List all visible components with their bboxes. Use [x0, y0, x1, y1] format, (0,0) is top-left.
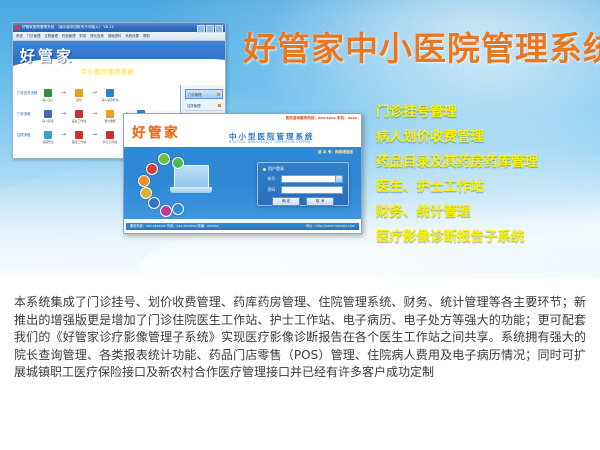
login-body: 版 本 号：网络增强版 用户登录 — [124, 147, 361, 219]
workflow-row-label: 住院流程 — [17, 131, 37, 140]
footer-bar: 服务热线：xxx-xxxxxxx 传真：xxx-xxxxxxx 邮编：xxxxx… — [126, 223, 359, 230]
password-label: 密码： — [263, 187, 279, 193]
login-title-text: 用户登录 — [268, 166, 284, 172]
contact-info: 售前咨询服务热线：xxx-xxxx 手机：xxxx — [286, 116, 357, 121]
menu-item-finance[interactable]: 财务 — [79, 32, 86, 40]
visit-query-icon — [106, 89, 114, 97]
workflow-node[interactable]: 医生工作站 — [68, 131, 90, 144]
workflow-row-label: 门诊流程 — [17, 110, 37, 119]
monitor-icon — [148, 197, 160, 209]
workflow-node-caption: 护士工作站 — [103, 140, 117, 144]
username-label: 帐号： — [263, 176, 279, 182]
patient-visit-icon — [44, 110, 52, 118]
menu-item-settings[interactable]: 系统设置 — [125, 32, 139, 40]
feature-item: 财务、统计管理 — [376, 200, 596, 225]
workflow-node[interactable]: 医生工作站 — [68, 110, 90, 123]
window-title-text: 好管家医院管理系统 （演示版测试帐号不可输入） V6.12 — [22, 23, 114, 32]
cancel-button[interactable]: 取 消 — [306, 197, 334, 206]
menu-item-basic-data[interactable]: 基础资料 — [108, 32, 122, 40]
page-title: 好管家中小医院管理系统 — [243, 22, 600, 70]
side-menu-item-inpatient[interactable]: 住院管理 — [185, 102, 223, 111]
footer-contact-text: 服务热线：xxx-xxxxxxx 传真：xxx-xxxxxxx 邮编：xxxxx… — [130, 223, 218, 230]
menu-item-director-query[interactable]: 院长查询 — [90, 32, 104, 40]
login-panel: 用户登录 帐号： 密码： 确 定 取 消 — [257, 162, 349, 206]
arrow-icon: → — [90, 131, 99, 139]
username-input[interactable] — [281, 175, 343, 183]
brand-subtitle-en: HOSPITAL MANAGEMENT OPERATION SYSTEM — [229, 140, 310, 144]
arrow-icon: → — [59, 131, 68, 139]
workflow-node[interactable]: 住院登记 — [37, 131, 59, 144]
arrow-icon: → — [59, 110, 68, 118]
chevron-down-icon[interactable] — [335, 176, 342, 182]
workflow-node[interactable]: 病人就诊 — [37, 110, 59, 123]
menu-item-inpatient[interactable]: 住院管理 — [44, 32, 58, 40]
workflow-node-caption: 病人录入 — [42, 98, 53, 102]
app-icon — [15, 25, 20, 30]
expand-icon — [217, 93, 220, 96]
brand-logo-text: 好管家 — [20, 45, 74, 66]
footer-website-link[interactable]: 网址：http://www.haoxxjia.com — [306, 223, 355, 230]
workflow-node-caption: 病人就诊查询 — [102, 98, 119, 102]
password-input[interactable] — [281, 186, 343, 194]
side-menu-item-outpatient[interactable]: 门诊管理 — [185, 89, 223, 99]
menu-item-drugs[interactable]: 药品管理 — [62, 32, 76, 40]
nurse-station-icon — [106, 131, 114, 139]
window-control-buttons — [197, 25, 223, 33]
window-brand-header: 好管家 — [13, 41, 225, 85]
decorative-icon-ring — [132, 153, 184, 215]
side-menu-label: 住院管理 — [187, 103, 201, 108]
workflow-row-label: 门诊挂号流程 — [17, 89, 37, 98]
feature-item: 药品目录及其药房药库管理 — [376, 150, 596, 175]
globe-icon — [172, 203, 184, 215]
arrow-icon: → — [59, 89, 68, 97]
login-screen-window: 售前咨询服务热线：xxx-xxxx 手机：xxxx 好管家 中小型医院管理系统 … — [123, 113, 362, 234]
feature-item: 医生、护士工作站 — [376, 175, 596, 200]
brand-logo-text: 好管家 — [132, 121, 180, 141]
window-title-bar: 好管家医院管理系统 （演示版测试帐号不可输入） V6.12 — [13, 23, 225, 32]
confirm-button[interactable]: 确 定 — [272, 197, 300, 206]
workflow-node-caption: 医生工作站 — [72, 119, 86, 123]
charging-icon — [106, 110, 114, 118]
workflow-node[interactable]: 病人录入 — [37, 89, 59, 102]
patient-entry-icon — [44, 89, 52, 97]
flower-icon — [160, 205, 172, 217]
feature-list: 门诊挂号管理 病人划价收费管理 药品目录及其药房药库管理 医生、护士工作站 财务… — [376, 100, 596, 250]
workflow-node-caption: 医生工作站 — [72, 140, 86, 144]
side-menu-label: 门诊管理 — [188, 92, 202, 97]
login-footer: 服务热线：xxx-xxxxxxx 传真：xxx-xxxxxxx 邮编：xxxxx… — [124, 219, 361, 231]
menu-bar: 系统 门诊管理 住院管理 药品管理 财务 院长查询 基础资料 系统设置 帮助 — [13, 32, 225, 41]
maximize-button[interactable] — [206, 25, 214, 33]
admission-icon — [44, 131, 52, 139]
workflow-row: 门诊挂号流程 病人录入 → 挂号 → 病人就诊查询 — [13, 89, 181, 110]
bullet-icon — [263, 168, 266, 171]
arrow-icon: → — [90, 110, 99, 118]
doctor-station-icon — [75, 110, 83, 118]
description-paragraph: 本系统集成了门诊挂号、划价收费管理、药库药房管理、住院管理系统、财务、统计管理等… — [14, 294, 586, 382]
workflow-node[interactable]: 护士工作站 — [99, 131, 121, 144]
feature-item: 门诊挂号管理 — [376, 100, 596, 125]
expand-icon — [218, 104, 221, 107]
version-label: 版 本 号：网络增强版 — [318, 150, 353, 155]
leaf-icon — [158, 153, 170, 165]
doctor-station-icon — [75, 131, 83, 139]
workflow-node-caption: 病人就诊 — [42, 119, 53, 123]
brand-subtitle: 中小医院管理系统 — [81, 67, 135, 76]
workflow-node[interactable]: 病人就诊查询 — [99, 89, 121, 102]
close-button[interactable] — [215, 25, 223, 33]
menu-item-help[interactable]: 帮助 — [143, 32, 150, 40]
login-panel-title: 用户登录 — [263, 166, 343, 172]
login-header: 售前咨询服务热线：xxx-xxxx 手机：xxxx 好管家 中小型医院管理系统 … — [124, 114, 361, 147]
login-buttons: 确 定 取 消 — [263, 197, 343, 206]
arrow-icon: → — [90, 89, 99, 97]
menu-item-outpatient[interactable]: 门诊管理 — [27, 32, 41, 40]
password-field-row: 密码： — [263, 186, 343, 194]
workflow-node-caption: 划价收费 — [104, 119, 115, 123]
pill-icon — [146, 163, 158, 175]
username-field-row: 帐号： — [263, 175, 343, 183]
mail-icon — [138, 175, 150, 187]
workflow-node[interactable]: 挂号 — [68, 89, 90, 102]
workflow-node[interactable]: 划价收费 — [99, 110, 121, 123]
menu-item-system[interactable]: 系统 — [16, 32, 23, 40]
page-root: 好管家中小医院管理系统 门诊挂号管理 病人划价收费管理 药品目录及其药房药库管理… — [0, 0, 600, 450]
feature-item: 医疗影像诊断报告子系统 — [376, 225, 596, 250]
chart-icon — [172, 157, 184, 169]
workflow-node-caption: 住院登记 — [42, 140, 53, 144]
registration-icon — [75, 89, 83, 97]
minimize-button[interactable] — [197, 25, 205, 33]
workflow-node-caption: 挂号 — [76, 98, 82, 102]
feature-item: 病人划价收费管理 — [376, 125, 596, 150]
